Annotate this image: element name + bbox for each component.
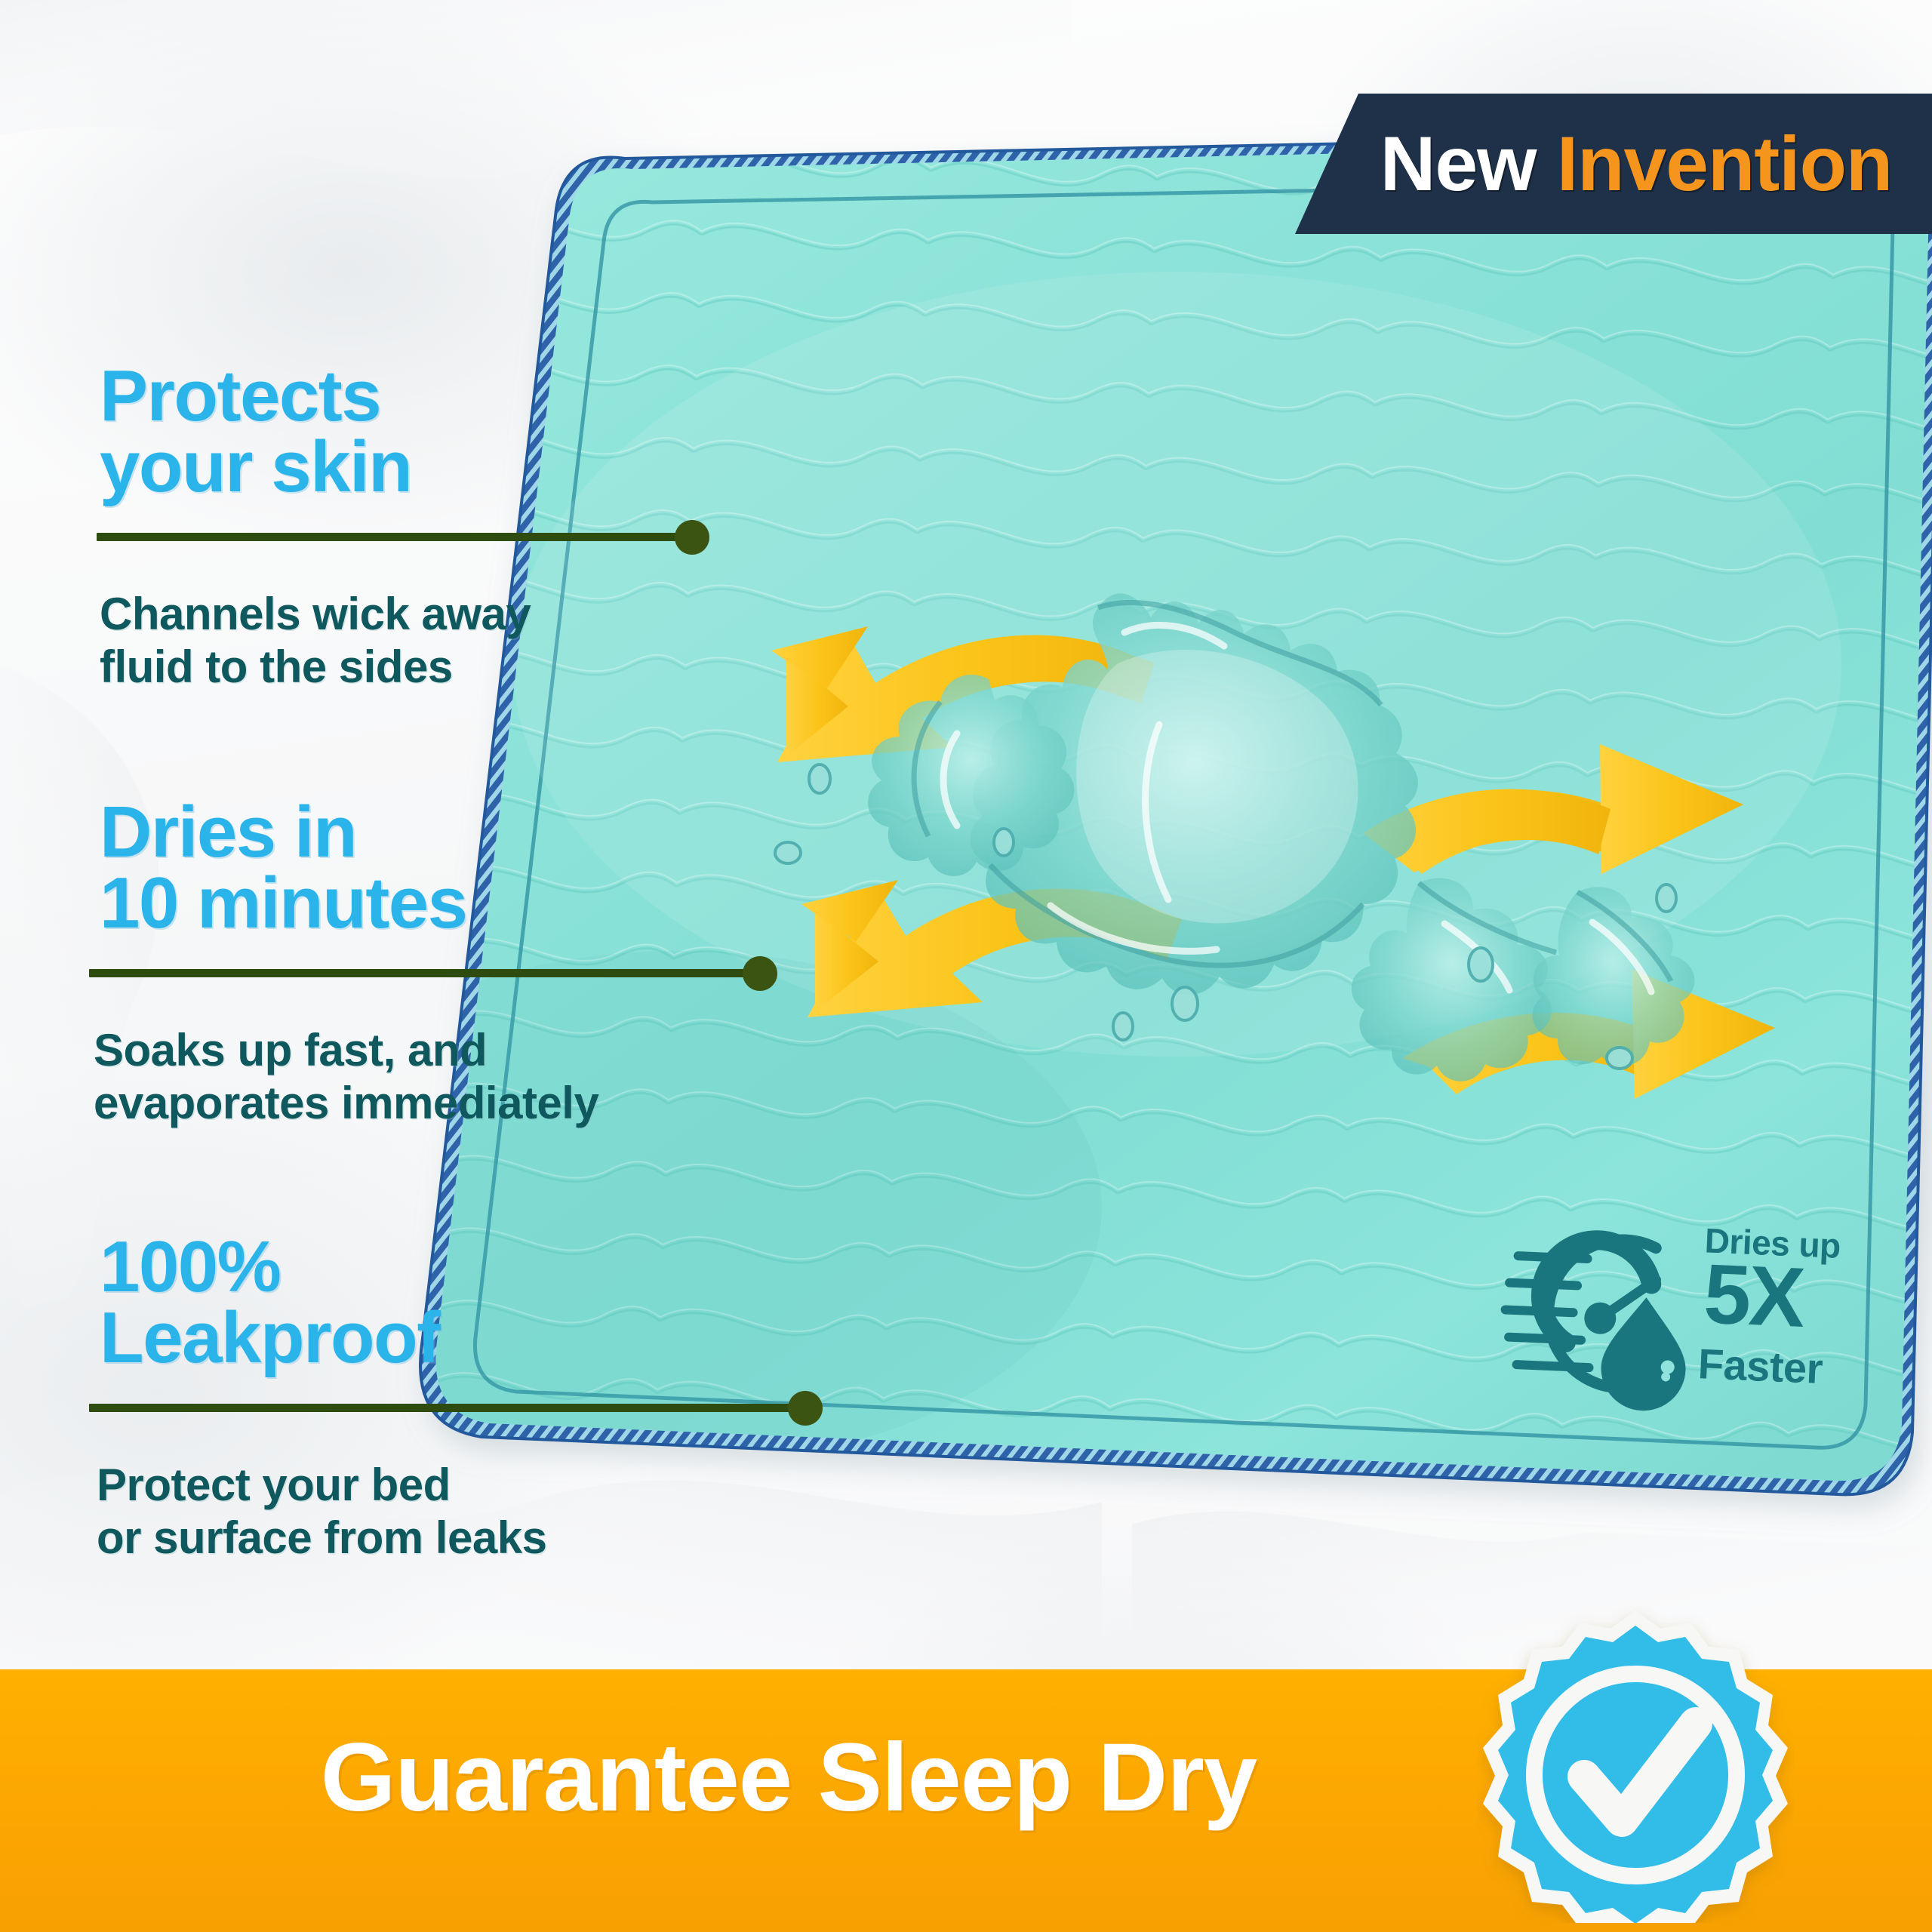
- speed-badge-line2: 5X: [1703, 1251, 1805, 1340]
- speed-badge-line3: Faster: [1697, 1339, 1824, 1393]
- infographic-canvas: Dries up 5X Faster New Invention Protect…: [0, 0, 1932, 1932]
- banner-word-new: New: [1380, 121, 1537, 207]
- speed-badge-text: Dries up 5X Faster: [1511, 1217, 1843, 1419]
- feature-3-headline: 100% Leakproof: [100, 1232, 830, 1374]
- feature-1-subtext: Channels wick away fluid to the sides: [100, 588, 755, 693]
- feature-3-connector-dot: [788, 1391, 823, 1426]
- feature-2-connector-dot: [743, 956, 777, 991]
- feature-2-subtext: Soaks up fast, and evaporates immediatel…: [94, 1024, 830, 1129]
- feature-2-connector-line: [89, 969, 761, 977]
- feature-1-headline: Protects your skin: [100, 361, 755, 503]
- new-invention-banner: New Invention: [1295, 94, 1932, 234]
- banner-word-invention: Invention: [1557, 121, 1892, 207]
- feature-dries-in-10-minutes: Dries in 10 minutes Soaks up fast, and e…: [0, 797, 830, 1129]
- feature-100-leakproof: 100% Leakproof Protect your bed or surfa…: [0, 1232, 830, 1564]
- feature-3-subtext: Protect your bed or surface from leaks: [97, 1459, 830, 1564]
- feature-protects-your-skin: Protects your skin Channels wick away fl…: [0, 361, 755, 693]
- feature-1-connector-dot: [675, 520, 709, 555]
- new-invention-text: New Invention: [1380, 120, 1892, 208]
- feature-1-connector-line: [97, 533, 693, 541]
- feature-3-connector-line: [89, 1404, 806, 1412]
- checkmark-seal-icon: [1477, 1606, 1794, 1923]
- feature-2-headline: Dries in 10 minutes: [100, 797, 830, 939]
- guarantee-title: Guarantee Sleep Dry: [0, 1722, 1577, 1833]
